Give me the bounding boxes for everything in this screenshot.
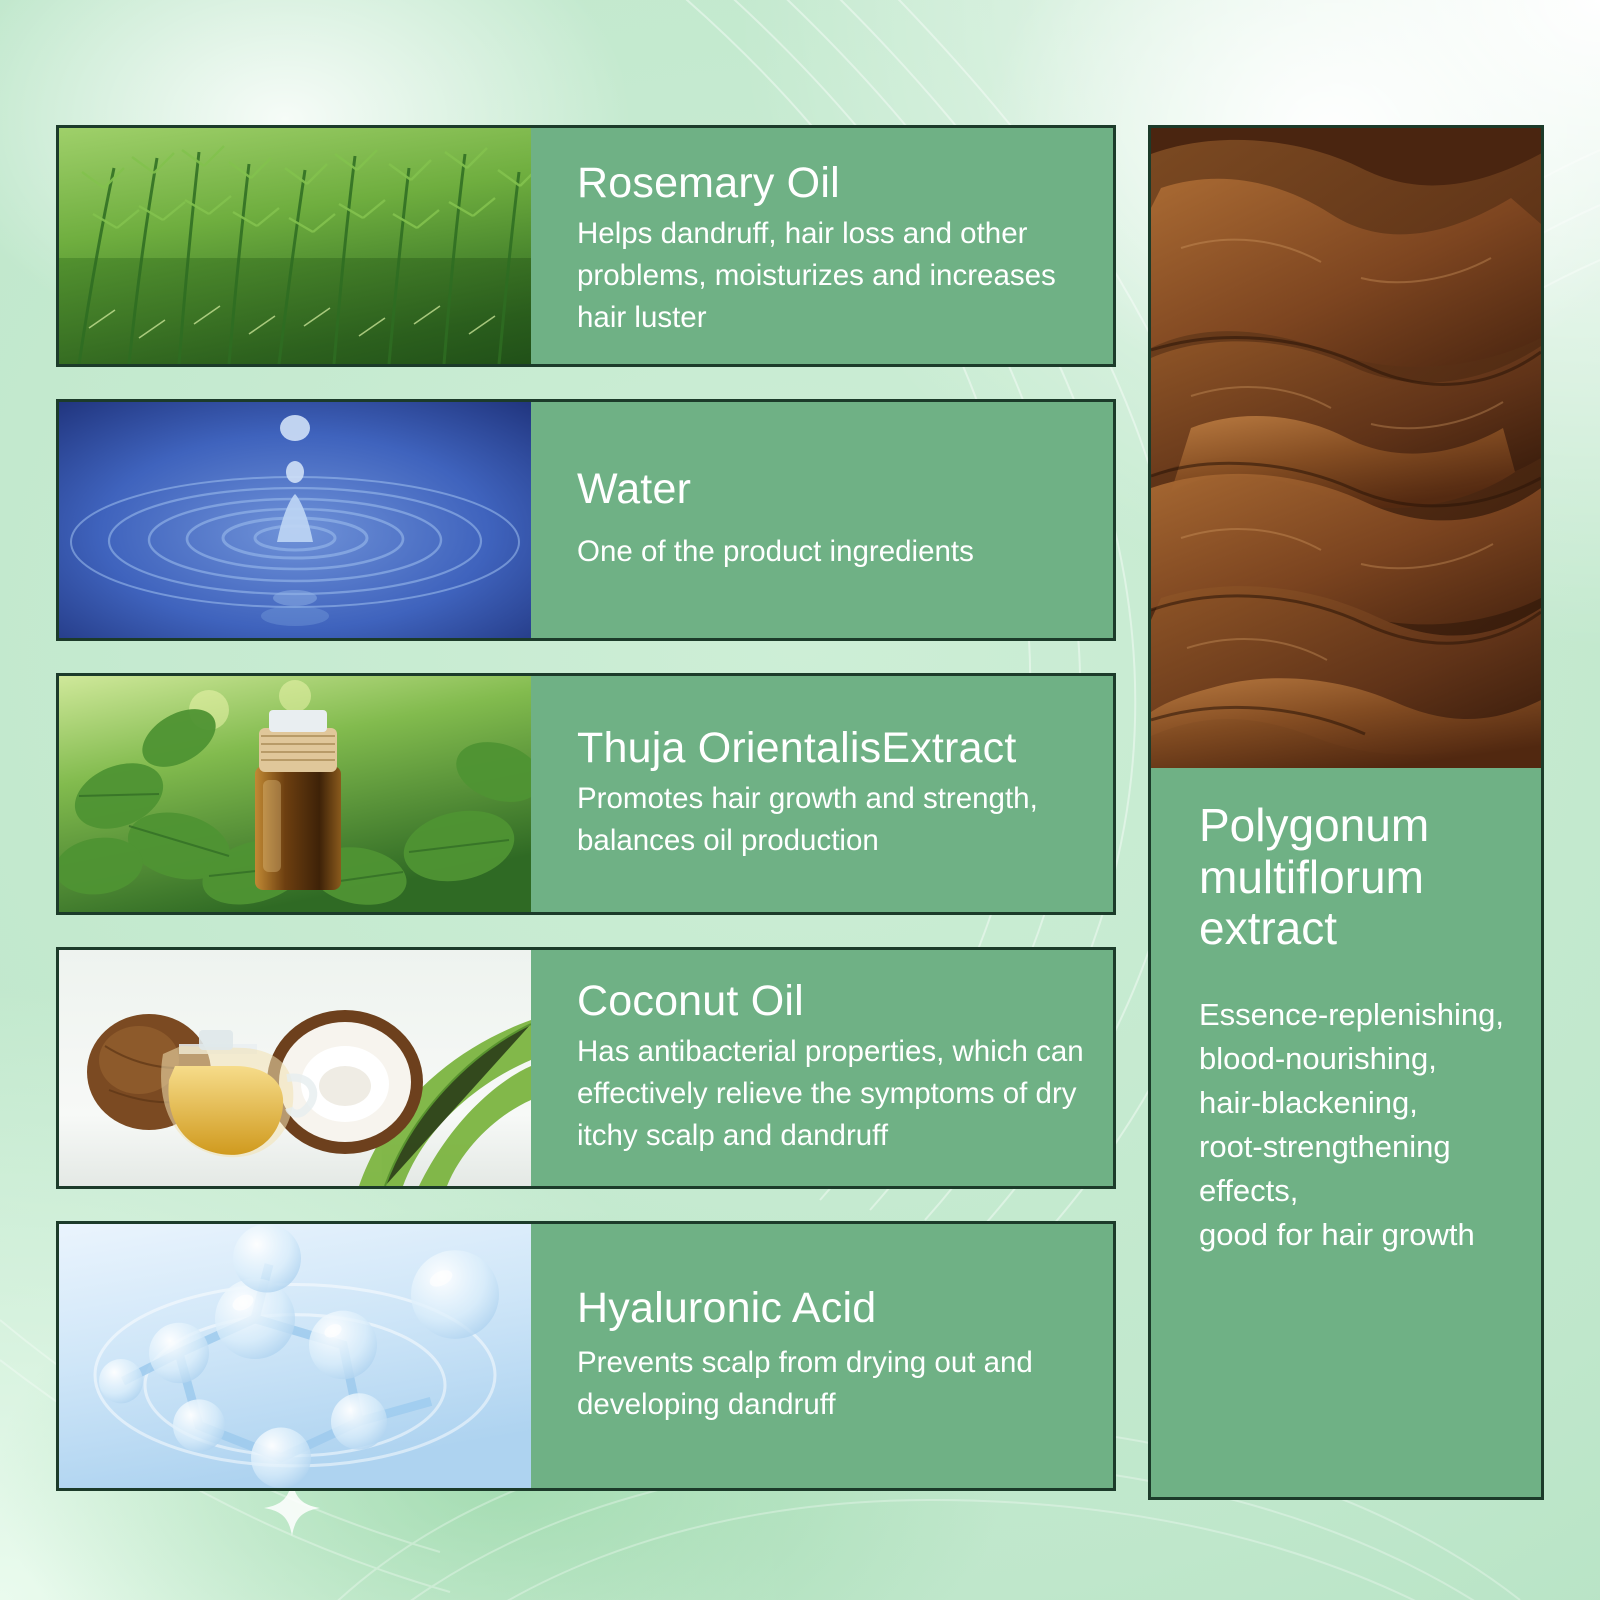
ingredient-title: Thuja OrientalisExtract	[577, 724, 1087, 772]
card-text-thuja-orientalis-extract: Thuja OrientalisExtract Promotes hair gr…	[531, 676, 1113, 912]
ingredient-title: Hyaluronic Acid	[577, 1284, 1087, 1332]
water-droplet-photo	[59, 402, 531, 638]
ingredient-description: Has antibacterial properties, which can …	[577, 1031, 1087, 1158]
ingredient-title: Coconut Oil	[577, 977, 1087, 1025]
polygonum-multiflorum-root-photo	[1151, 128, 1541, 768]
essential-oil-bottle-with-mint-photo	[59, 676, 531, 912]
ingredient-infographic: Rosemary Oil Helps dandruff, hair loss a…	[0, 0, 1600, 1600]
ingredient-description: Essence-replenishing, blood-nourishing, …	[1199, 993, 1515, 1257]
ingredient-title: Rosemary Oil	[577, 159, 1087, 207]
card-text-polygonum-multiflorum-extract: Polygonum multiflorum extract Essence-re…	[1151, 768, 1541, 1267]
ingredient-card-hyaluronic-acid[interactable]: Hyaluronic Acid Prevents scalp from dryi…	[56, 1221, 1116, 1491]
ingredient-card-rosemary-oil[interactable]: Rosemary Oil Helps dandruff, hair loss a…	[56, 125, 1116, 367]
ingredient-description: Promotes hair growth and strength, balan…	[577, 778, 1087, 862]
card-text-water: Water One of the product ingredients	[531, 402, 1113, 638]
ingredient-description: Helps dandruff, hair loss and other prob…	[577, 213, 1087, 340]
ingredient-description: One of the product ingredients	[577, 531, 1087, 573]
ingredient-card-coconut-oil[interactable]: Coconut Oil Has antibacterial properties…	[56, 947, 1116, 1189]
card-text-rosemary-oil: Rosemary Oil Helps dandruff, hair loss a…	[531, 128, 1113, 364]
card-text-hyaluronic-acid: Hyaluronic Acid Prevents scalp from dryi…	[531, 1224, 1113, 1488]
ingredient-description: Prevents scalp from drying out and devel…	[577, 1342, 1087, 1426]
hyaluronic-acid-molecule-photo	[59, 1224, 531, 1488]
left-ingredient-list: Rosemary Oil Helps dandruff, hair loss a…	[56, 125, 1116, 1491]
ingredient-card-water[interactable]: Water One of the product ingredients	[56, 399, 1116, 641]
rosemary-plant-photo	[59, 128, 531, 364]
ingredient-title: Polygonum multiflorum extract	[1199, 800, 1515, 955]
ingredient-card-polygonum-multiflorum-extract[interactable]: Polygonum multiflorum extract Essence-re…	[1148, 125, 1544, 1500]
card-text-coconut-oil: Coconut Oil Has antibacterial properties…	[531, 950, 1113, 1186]
coconut-oil-jug-photo	[59, 950, 531, 1186]
ingredient-card-thuja-orientalis-extract[interactable]: Thuja OrientalisExtract Promotes hair gr…	[56, 673, 1116, 915]
ingredient-title: Water	[577, 465, 1087, 513]
